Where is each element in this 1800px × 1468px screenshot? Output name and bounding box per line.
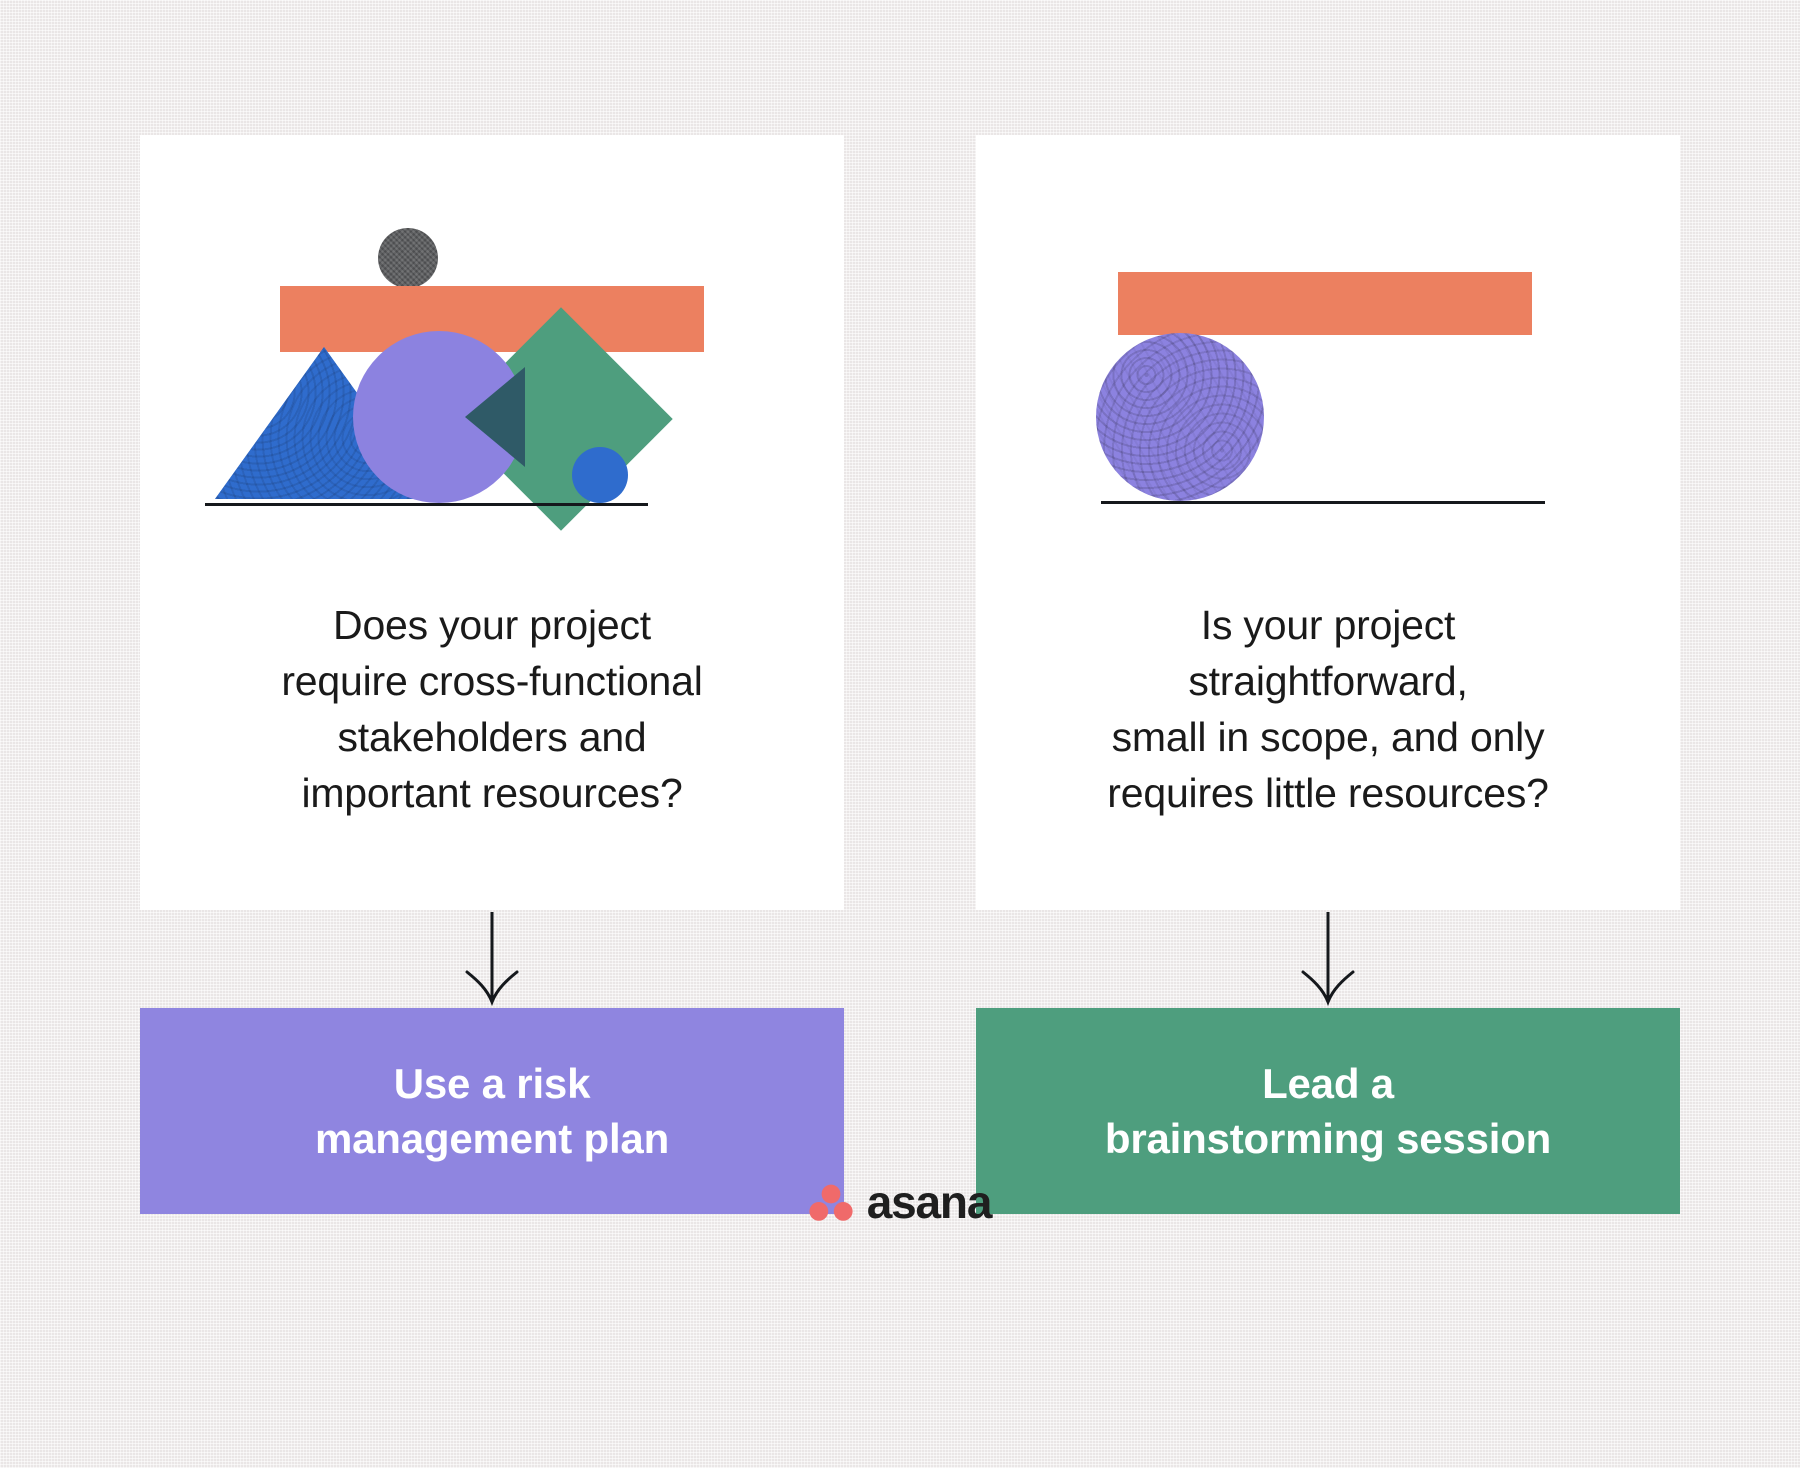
orange-balance-bar-shape — [1118, 272, 1532, 335]
orange-balance-bar-shape — [280, 286, 704, 352]
purple-textured-circle-shape — [1096, 333, 1264, 501]
question-card-left: Does your project require cross-function… — [140, 135, 844, 910]
question-text-left: Does your project require cross-function… — [140, 597, 844, 822]
down-curved-arrow-icon — [1283, 910, 1373, 1010]
asana-wordmark: asana — [867, 1175, 991, 1229]
dark-grey-ball-shape — [378, 228, 438, 288]
flow-arrow-left — [140, 910, 844, 1010]
decision-column-right: Is your project straightforward, small i… — [976, 135, 1680, 910]
flow-arrow-right — [976, 910, 1680, 1010]
question-text-right: Is your project straightforward, small i… — [976, 597, 1680, 822]
asana-logo-icon — [809, 1182, 853, 1222]
ground-line-shape — [1101, 501, 1545, 504]
down-curved-arrow-icon — [447, 910, 537, 1010]
unbalanced-load-illustration — [140, 135, 844, 570]
simple-load-illustration — [976, 135, 1680, 570]
ground-line-shape — [205, 503, 648, 506]
infographic-stage: Does your project require cross-function… — [0, 0, 1800, 1468]
question-card-right: Is your project straightforward, small i… — [976, 135, 1680, 910]
decision-column-left: Does your project require cross-function… — [140, 135, 844, 910]
brand-footer: asana — [0, 1175, 1800, 1229]
small-blue-circle-shape — [572, 447, 628, 503]
